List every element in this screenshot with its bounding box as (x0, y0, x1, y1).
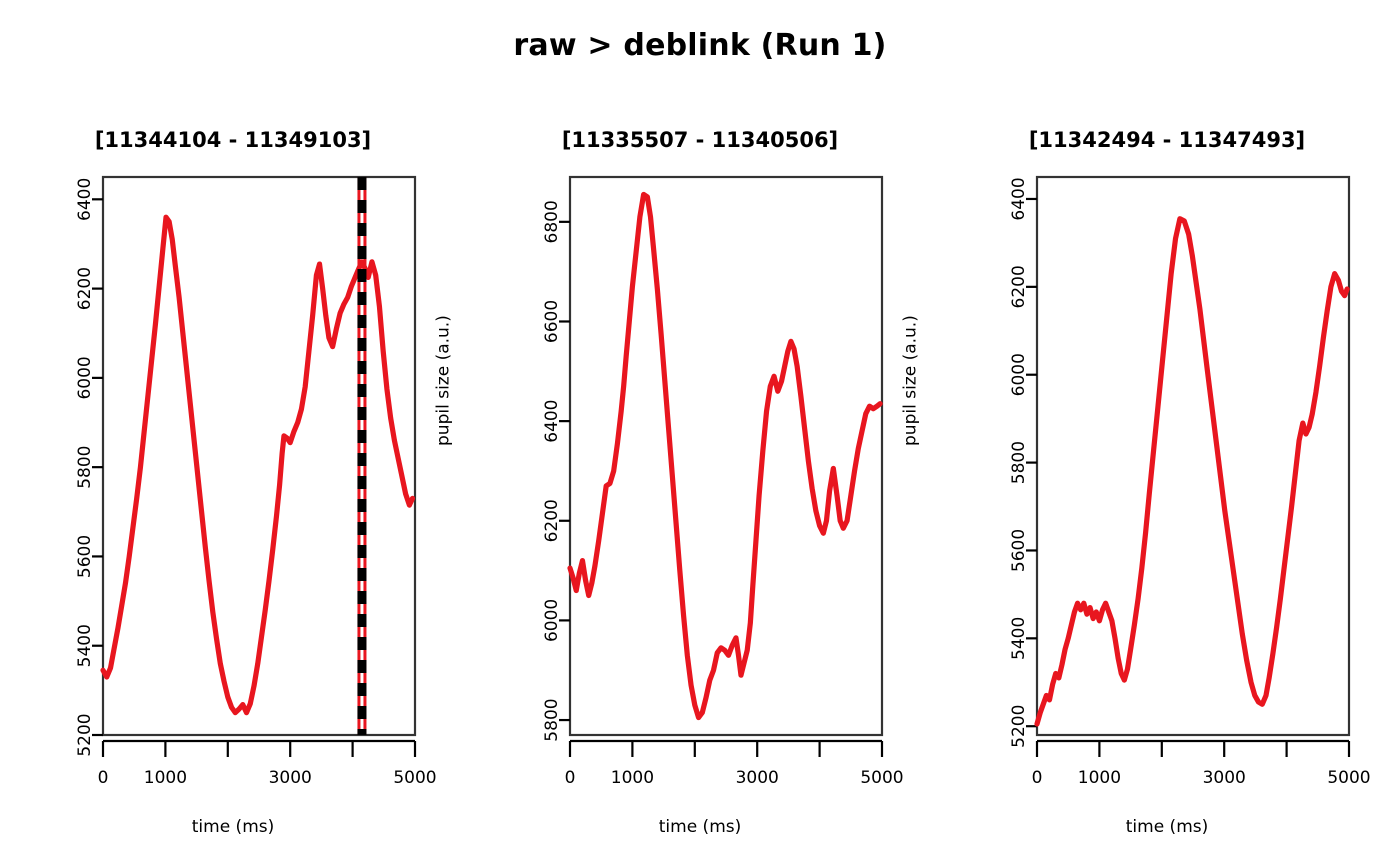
panel-2: [11335507 - 11340506] 580060006200640066… (467, 0, 933, 866)
y-tick-label: 6000 (75, 356, 95, 399)
pupillometry-figure: raw > deblink (Run 1) [11344104 - 113491… (0, 0, 1400, 866)
data-trace (1037, 219, 1347, 724)
x-tick-label: 5000 (860, 768, 903, 788)
x-tick-label: 5000 (1327, 768, 1370, 788)
x-tick-label: 0 (565, 768, 576, 788)
y-tick-label: 6200 (75, 267, 95, 310)
panel-2-plot: 5800600062006400660068000100030005000 (467, 0, 933, 866)
x-tick-label: 1000 (144, 768, 187, 788)
y-tick-label: 5800 (1009, 441, 1029, 484)
x-tick-label: 0 (98, 768, 109, 788)
y-tick-label: 5800 (75, 446, 95, 489)
y-tick-label: 5400 (1009, 617, 1029, 660)
y-tick-label: 6200 (542, 499, 562, 542)
y-tick-label: 6000 (542, 599, 562, 642)
panel-3: [11342494 - 11347493] 520054005600580060… (934, 0, 1400, 866)
x-tick-label: 5000 (393, 768, 436, 788)
y-tick-label: 6200 (1009, 265, 1029, 308)
y-tick-label: 5600 (75, 535, 95, 578)
x-tick-label: 0 (1032, 768, 1043, 788)
panel-1-xlabel: time (ms) (0, 817, 466, 837)
panel-1: [11344104 - 11349103] 520054005600580060… (0, 0, 466, 866)
data-trace (570, 194, 880, 717)
y-tick-label: 6800 (542, 200, 562, 243)
panel-2-ylabel: pupil size (a.u.) (434, 315, 454, 446)
x-tick-label: 1000 (611, 768, 654, 788)
panel-1-plot: 5200540056005800600062006400010003000500… (0, 0, 466, 866)
y-tick-label: 6400 (542, 399, 562, 442)
y-tick-label: 6000 (1009, 353, 1029, 396)
panel-2-xlabel: time (ms) (467, 817, 933, 837)
y-tick-label: 6400 (1009, 177, 1029, 220)
panel-3-ylabel: pupil size (a.u.) (901, 315, 921, 446)
y-tick-label: 5600 (1009, 529, 1029, 572)
y-tick-label: 5200 (75, 713, 95, 756)
y-tick-label: 6400 (75, 178, 95, 221)
x-tick-label: 3000 (736, 768, 779, 788)
y-tick-label: 5200 (1009, 705, 1029, 748)
x-tick-label: 3000 (1203, 768, 1246, 788)
y-tick-label: 6600 (542, 300, 562, 343)
x-tick-label: 1000 (1078, 768, 1121, 788)
panel-3-xlabel: time (ms) (934, 817, 1400, 837)
y-tick-label: 5400 (75, 624, 95, 667)
x-tick-label: 3000 (269, 768, 312, 788)
y-tick-label: 5800 (542, 698, 562, 741)
panel-3-plot: 5200540056005800600062006400010003000500… (934, 0, 1400, 866)
